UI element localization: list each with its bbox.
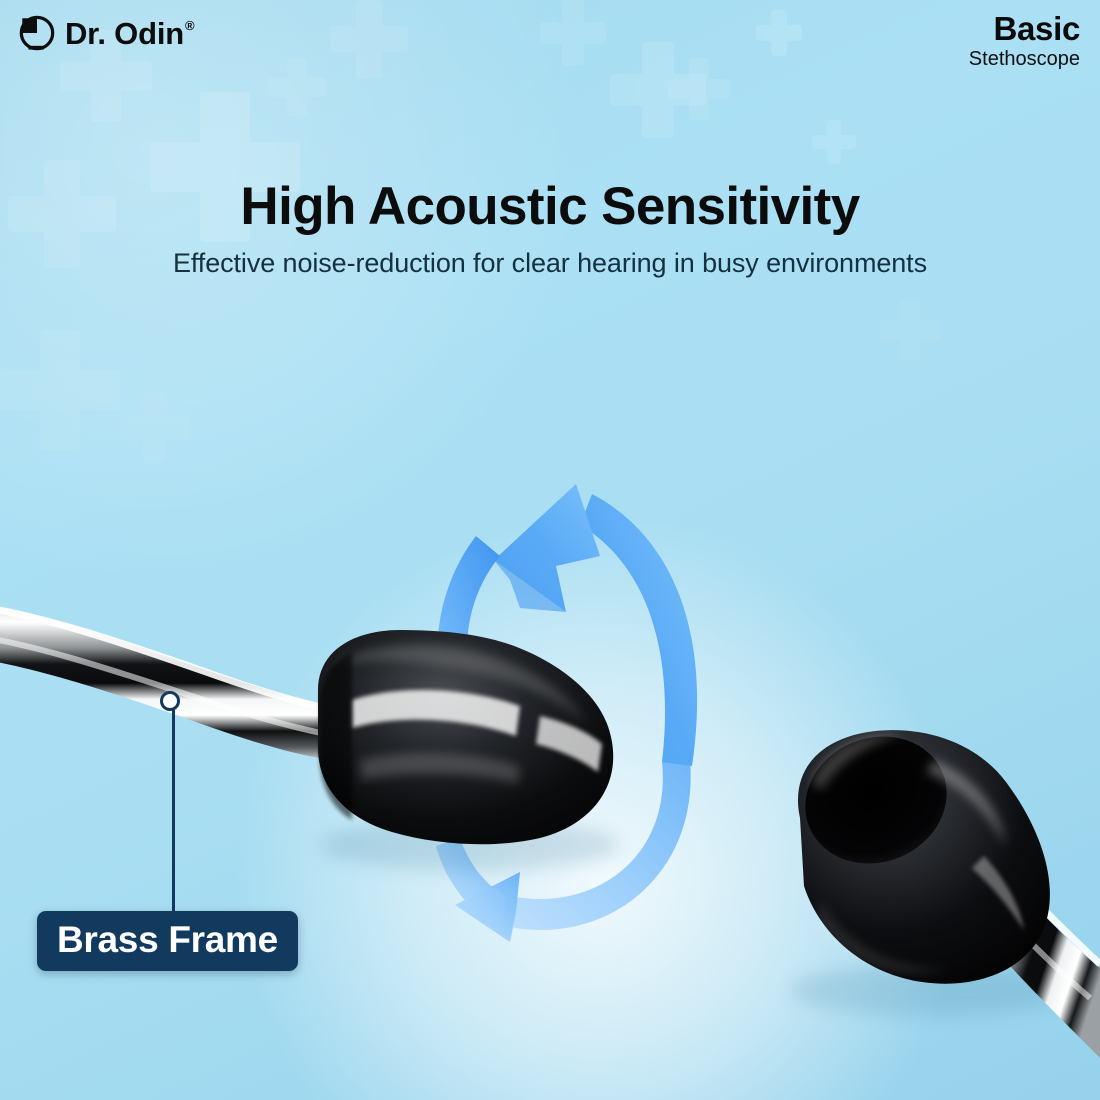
left-chrome-tube: [0, 600, 330, 760]
callout-connector-line: [172, 700, 175, 918]
brand-logo: Dr. Odin ®: [18, 14, 194, 52]
feature-callout-badge: Brass Frame: [37, 911, 298, 971]
product-type-label: Stethoscope: [969, 47, 1080, 71]
brand-logo-text: Dr. Odin ®: [65, 18, 194, 49]
registered-trademark-icon: ®: [185, 19, 194, 32]
product-banner: Dr. Odin ® Basic Stethoscope High Acoust…: [0, 0, 1100, 1100]
left-earpiece: [318, 630, 620, 871]
page-title: High Acoustic Sensitivity: [0, 176, 1100, 237]
ring-marker-icon: [160, 691, 180, 711]
brand-logo-wordmark: Dr. Odin: [65, 18, 184, 49]
dr-odin-aperture-icon: [18, 14, 56, 52]
page-subtitle: Effective noise-reduction for clear hear…: [0, 248, 1100, 279]
product-name-block: Basic Stethoscope: [969, 12, 1080, 71]
right-earpiece: [786, 716, 1100, 1058]
product-line-label: Basic: [969, 12, 1080, 46]
